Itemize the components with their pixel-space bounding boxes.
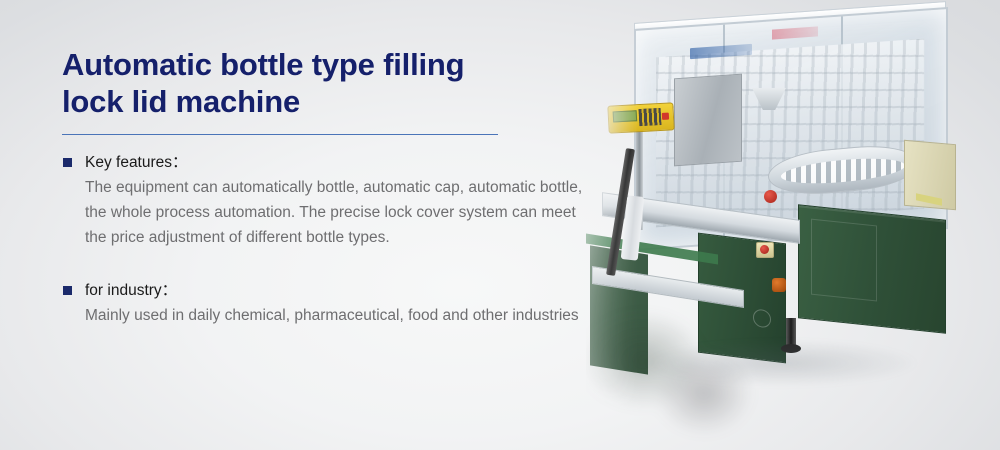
emergency-stop-icon <box>764 190 777 203</box>
machine-green-cabinet-main <box>798 204 946 334</box>
feature-body: The equipment can automatically bottle, … <box>85 175 597 250</box>
control-panel-indicator-led <box>662 113 669 120</box>
banner-text-column: Automatic bottle type filling lock lid m… <box>62 46 602 328</box>
page-title: Automatic bottle type filling lock lid m… <box>62 46 602 120</box>
feature-body: Mainly used in daily chemical, pharmaceu… <box>85 303 597 328</box>
feature-block-key-features: Key features： The equipment can automati… <box>62 152 602 250</box>
title-divider <box>62 134 498 135</box>
feature-heading: for industry： <box>85 280 602 301</box>
feature-heading: Key features： <box>85 152 602 173</box>
machine-illustration <box>586 0 1000 450</box>
machine-control-panel <box>607 102 674 133</box>
square-bullet-icon <box>63 158 72 167</box>
machine-selector-knob <box>772 278 786 292</box>
machine-stainless-cabinet <box>674 74 742 167</box>
control-panel-keypad-icon <box>639 108 662 126</box>
square-bullet-icon <box>63 286 72 295</box>
feature-block-for-industry: for industry： Mainly used in daily chemi… <box>62 280 602 328</box>
machine-ground-shadow <box>646 340 916 386</box>
product-banner: Automatic bottle type filling lock lid m… <box>0 0 1000 450</box>
control-panel-lcd-screen <box>613 110 638 122</box>
emergency-stop-icon <box>756 242 774 258</box>
product-photo <box>586 0 1000 450</box>
